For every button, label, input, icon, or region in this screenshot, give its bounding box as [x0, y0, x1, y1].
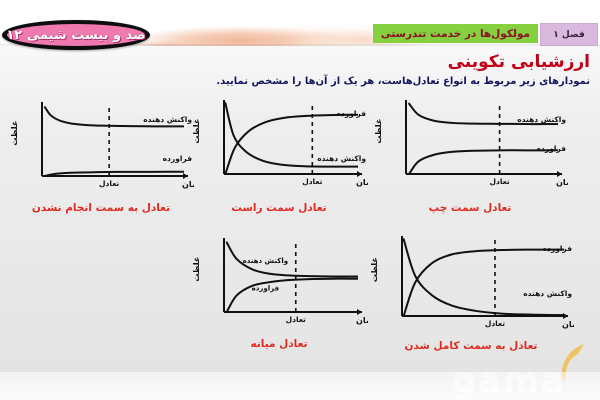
y-axis-title: غلظت — [192, 119, 201, 144]
page-subtitle: نمودارهای زیر مربوط به انواع تعادل‌هاست،… — [216, 76, 590, 87]
y-axis-title: غلظت — [10, 121, 19, 146]
page-title: ارزشیابی تکوینی — [448, 52, 590, 72]
series-label-0: فراورده — [337, 109, 366, 118]
series-label-0: واکنش دهنده — [143, 115, 192, 124]
unit-title-label: مولکول‌ها در خدمت تندرستی — [381, 28, 530, 40]
equilibrium-tick-label: تعادل — [485, 319, 505, 328]
equilibrium-tick-label: تعادل — [286, 315, 306, 324]
curve-series-1 — [227, 279, 354, 312]
curve-series-0 — [404, 250, 552, 316]
bottom-fade — [0, 372, 600, 400]
series-label-0: واکنش دهنده — [243, 257, 289, 265]
chart-middle-plot: تعادلواکنش دهندهفراوردهغلظتزمان — [190, 234, 368, 334]
series-label-1: فراورده — [163, 154, 192, 163]
x-axis-title: زمان — [556, 178, 568, 187]
unit-title-badge: مولکول‌ها در خدمت تندرستی — [373, 24, 538, 43]
chart-middle: تعادلواکنش دهندهفراوردهغلظتزمانتعادل میا… — [190, 234, 368, 360]
curve-series-1 — [409, 150, 549, 174]
x-axis-arrow-icon — [357, 171, 362, 177]
y-axis-title: غلظت — [370, 257, 379, 282]
series-label-0: واکنش دهنده — [517, 115, 566, 124]
series-label-0: فراورده — [543, 244, 572, 253]
chart-caption: تعادل سمت چپ — [372, 202, 568, 214]
chapter-badge: فصل ۱ — [540, 23, 598, 46]
chart-left-shift: تعادلغلظتزمانواکنش دهندهفراوردهتعادل سمت… — [372, 96, 568, 222]
chart-complete: تعادلغلظتزمانفراوردهواکنش دهندهتعادل به … — [368, 232, 574, 364]
y-axis-title: غلظت — [374, 119, 383, 144]
x-axis-title: زمان — [356, 316, 368, 325]
equilibrium-tick-label: تعادل — [302, 177, 322, 186]
x-axis-arrow-icon — [357, 309, 362, 315]
slide-canvas: صد و بیست شیمی ۱۲ فصل ۱ مولکول‌ها در خدم… — [0, 0, 600, 400]
series-label-1: فراورده — [537, 144, 566, 153]
series-label-1: واکنش دهنده — [317, 154, 366, 163]
chart-caption: تعادل به سمت کامل شدن — [368, 340, 574, 352]
brand-logo-text: صد و بیست شیمی ۱۲ — [6, 28, 145, 43]
brand-logo-inner: صد و بیست شیمی ۱۲ — [7, 24, 145, 46]
chart-no-reaction-plot: تعادلغلظتزمان — [8, 98, 194, 198]
chapter-badge-label: فصل ۱ — [553, 30, 584, 40]
x-axis-title: زمان — [562, 320, 574, 329]
x-axis-arrow-icon — [557, 171, 562, 177]
y-axis-title: غلظت — [192, 257, 201, 282]
chart-caption: تعادل به سمت انجام نشدن — [8, 202, 194, 214]
series-label-1: فراورده — [252, 285, 280, 293]
x-axis-title: زمان — [356, 178, 368, 187]
chart-no-reaction: تعادلغلظتزمانواکنش دهندهفراوردهتعادل به … — [8, 98, 194, 224]
chart-caption: تعادل سمت راست — [190, 202, 368, 214]
chart-right-shift: تعادلغلظتزمانفراوردهواکنش دهندهتعادل سمت… — [190, 96, 368, 222]
series-label-1: واکنش دهنده — [523, 289, 572, 298]
equilibrium-tick-label: تعادل — [489, 177, 509, 186]
equilibrium-tick-label: تعادل — [99, 179, 119, 188]
chart-caption: تعادل میانه — [190, 338, 368, 350]
x-axis-arrow-icon — [183, 173, 188, 179]
brand-logo: صد و بیست شیمی ۱۲ — [2, 20, 150, 50]
